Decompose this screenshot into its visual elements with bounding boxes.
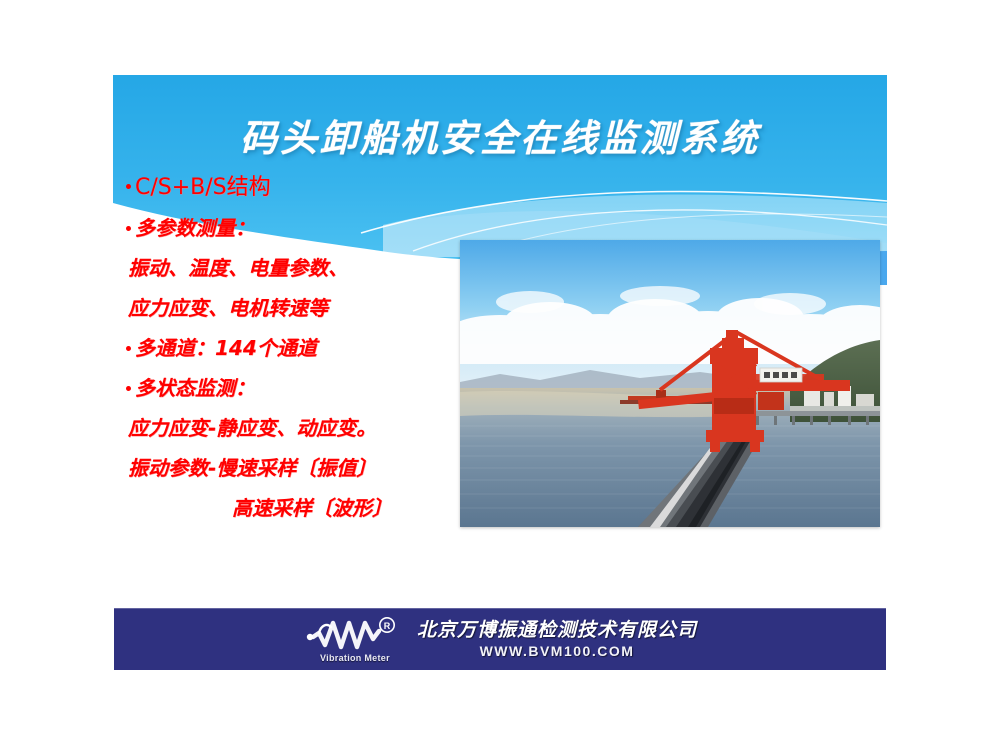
bullet-dot-icon (126, 386, 131, 391)
bullet-text: 高速采样〔波形〕 (232, 496, 392, 520)
bullet-subitem: 高速采样〔波形〕 (124, 488, 474, 528)
crane-signboard (760, 368, 802, 382)
bullet-text: 多参数测量： (135, 216, 255, 240)
ship-unloader-photo (460, 240, 880, 527)
bullet-text: C/S+B/S结构 (135, 175, 271, 200)
svg-text:R: R (384, 621, 391, 631)
bullet-dot-icon (126, 346, 131, 351)
company-website: WWW.BVM100.COM (480, 644, 635, 658)
bullet-text: 振动、温度、电量参数、 (128, 256, 348, 280)
bullet-subitem: 振动参数-慢速采样〔振值〕 (124, 448, 474, 488)
bullet-item: C/S+B/S结构 (124, 168, 474, 208)
footer-bar: R Vibration Meter 北京万博振通检测技术有限公司 WWW.BVM… (114, 608, 886, 670)
bullet-dot-icon (126, 226, 131, 231)
slide-title: 码头卸船机安全在线监测系统 (113, 108, 887, 162)
company-name: 北京万博振通检测技术有限公司 (417, 621, 697, 640)
bullet-subitem: 应力应变-静应变、动应变。 (124, 408, 474, 448)
footer-text-block: 北京万博振通检测技术有限公司 WWW.BVM100.COM (417, 621, 697, 658)
bullet-list: C/S+B/S结构 多参数测量： 振动、温度、电量参数、 应力应变、电机转速等 … (124, 168, 474, 528)
bullet-subitem: 振动、温度、电量参数、 (124, 248, 474, 288)
bullet-text: 应力应变-静应变、动应变。 (128, 416, 376, 440)
bullet-text: 应力应变、电机转速等 (128, 296, 328, 320)
bullet-dot-icon (126, 184, 131, 189)
presentation-slide: 码头卸船机安全在线监测系统 C/S+B/S结构 多参数测量： 振动、温度、电量参… (113, 75, 887, 670)
bullet-item: 多参数测量： (124, 208, 474, 248)
bullet-item: 多通道：144个通道 (124, 328, 474, 368)
logo-caption: Vibration Meter (303, 653, 407, 663)
registered-trademark-icon: R (380, 618, 394, 632)
bullet-text: 振动参数-慢速采样〔振值〕 (128, 456, 376, 480)
bullet-subitem: 应力应变、电机转速等 (124, 288, 474, 328)
company-logo: R Vibration Meter (303, 615, 407, 663)
photo-illustration (460, 240, 880, 527)
bullet-text: 多状态监测： (135, 376, 255, 400)
bullet-text: 多通道：144个通道 (135, 336, 317, 360)
bullet-item: 多状态监测： (124, 368, 474, 408)
